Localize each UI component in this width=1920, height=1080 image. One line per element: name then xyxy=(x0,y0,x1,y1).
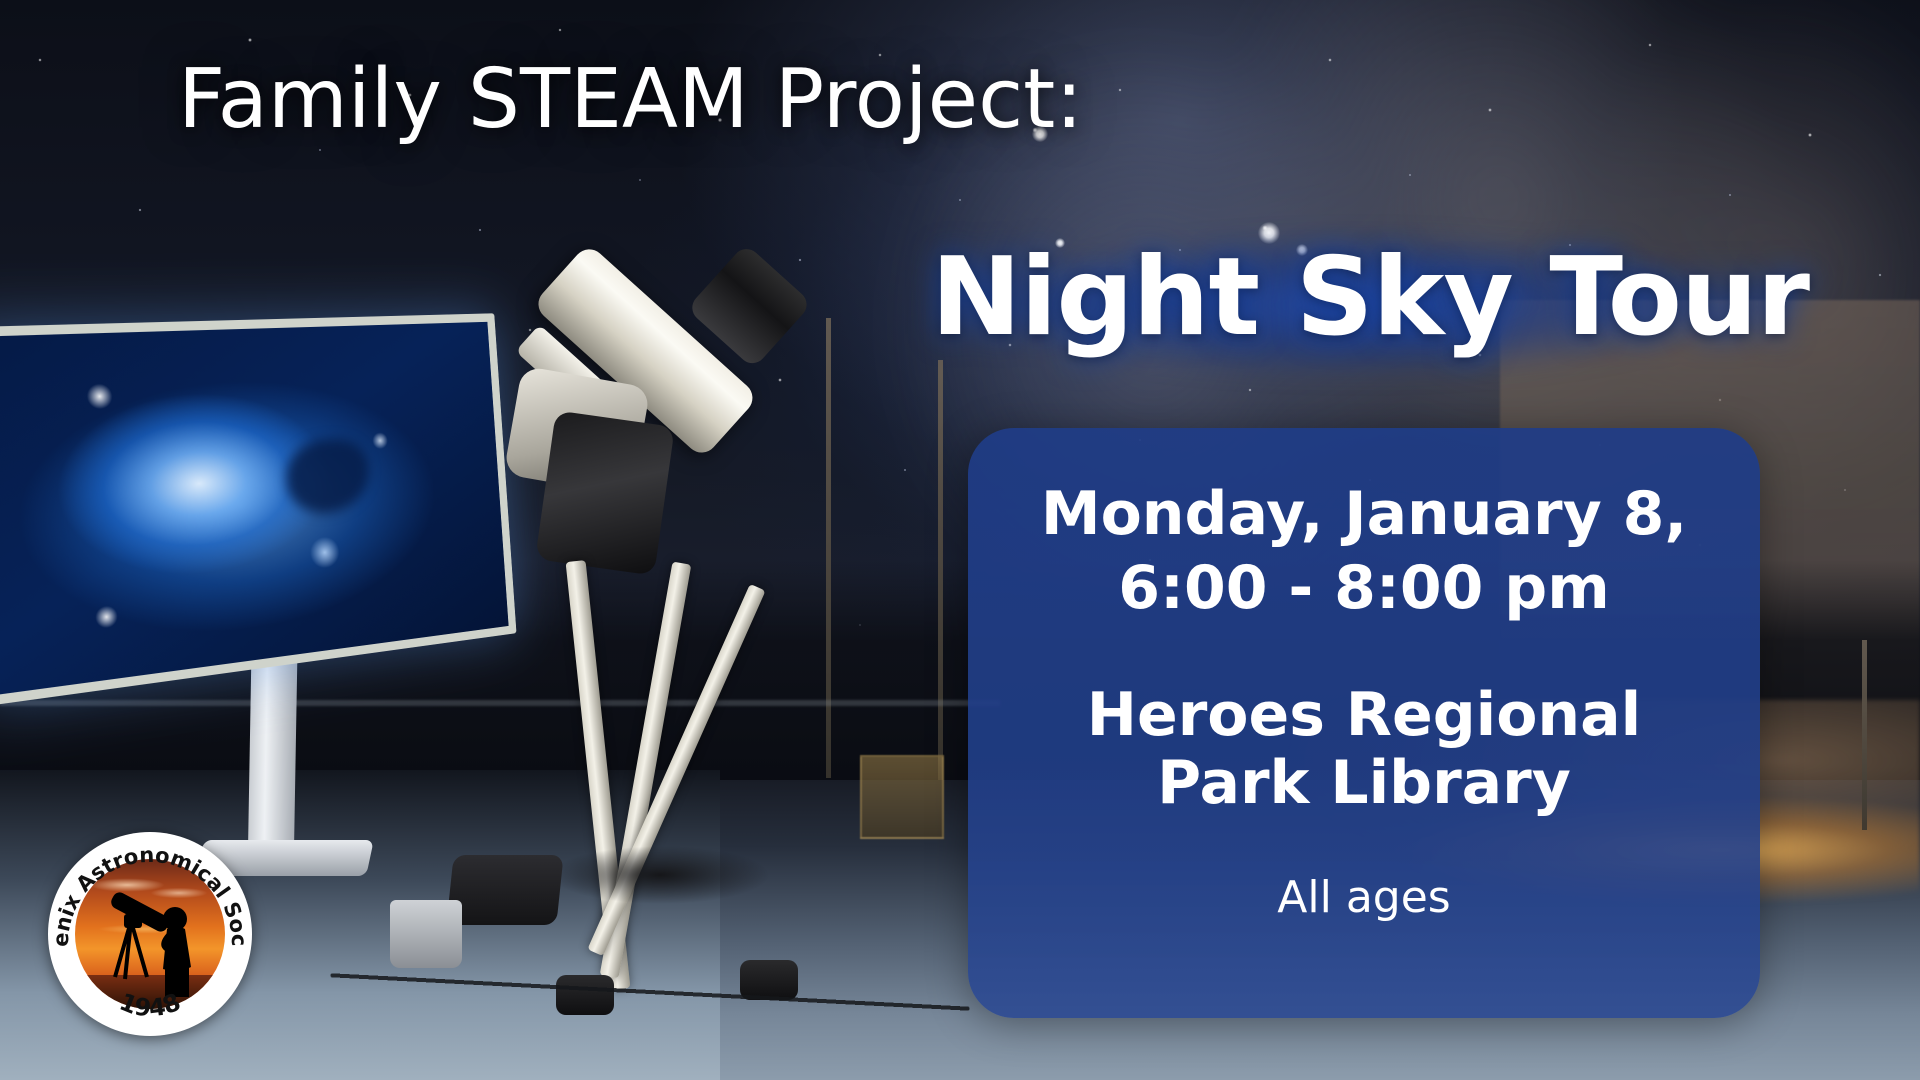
pole xyxy=(1862,640,1867,830)
tripod-foot xyxy=(740,960,798,1000)
event-flyer: Family STEAM Project: Night Sky Tour Mon… xyxy=(0,0,1920,1080)
svg-text:1948: 1948 xyxy=(116,988,185,1023)
page-title: Night Sky Tour xyxy=(890,235,1850,360)
nebula-image xyxy=(0,322,509,696)
equipment-case xyxy=(446,855,563,925)
tripod-base-shadow xyxy=(520,830,800,920)
phoenix-astronomical-society-logo: Phoenix Astronomical Society 1948 xyxy=(48,832,252,1036)
svg-text:Phoenix Astronomical Society: Phoenix Astronomical Society xyxy=(48,832,251,947)
event-venue-line-1: Heroes Regional xyxy=(1087,681,1641,749)
equipment-table xyxy=(860,755,944,839)
telescope-mount-body xyxy=(535,410,675,575)
pole xyxy=(826,318,831,778)
railing xyxy=(0,700,1000,706)
event-info-card: Monday, January 8, 6:00 - 8:00 pm Heroes… xyxy=(968,428,1760,1018)
event-date-line: Monday, January 8, xyxy=(1041,480,1687,548)
page-eyebrow-title: Family STEAM Project: xyxy=(178,52,1083,147)
equipment-bucket xyxy=(390,900,462,968)
event-audience: All ages xyxy=(1277,872,1450,923)
pole xyxy=(938,360,943,780)
event-venue-line-2: Park Library xyxy=(1157,749,1571,817)
logo-curved-text: Phoenix Astronomical Society 1948 xyxy=(48,832,252,1036)
tripod-foot xyxy=(556,975,614,1015)
event-time-line: 6:00 - 8:00 pm xyxy=(1118,554,1610,622)
